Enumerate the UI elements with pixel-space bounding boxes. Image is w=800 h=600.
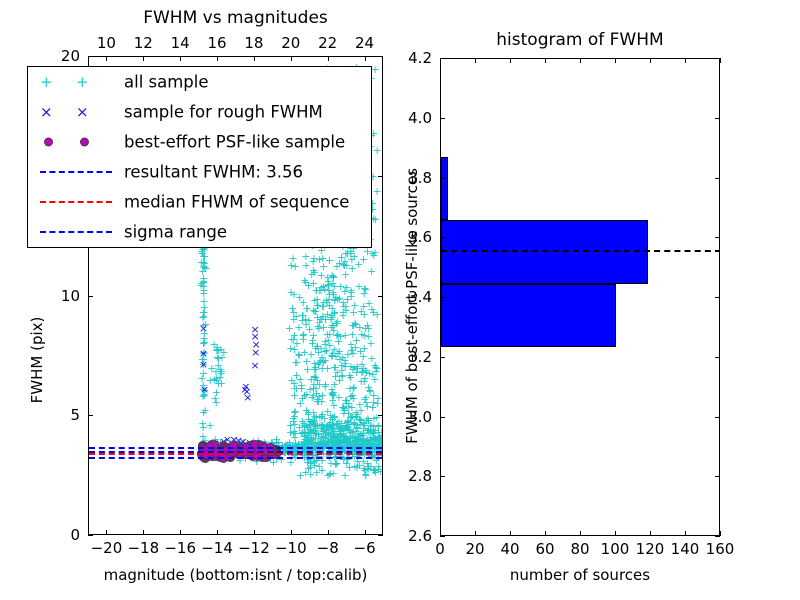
all-sample-point: + xyxy=(327,438,336,445)
all-sample-point: + xyxy=(340,438,349,445)
all-sample-point: + xyxy=(323,311,332,318)
all-sample-point: + xyxy=(314,349,323,356)
all-sample-point: + xyxy=(302,305,311,312)
x-tick-mark-top xyxy=(291,56,292,61)
all-sample-point: + xyxy=(369,434,378,441)
all-sample-point: + xyxy=(371,469,380,476)
all-sample-point: + xyxy=(334,394,343,401)
all-sample-point: + xyxy=(365,439,374,446)
all-sample-point: + xyxy=(370,362,379,369)
psf-like-point xyxy=(219,441,228,450)
all-sample-point: + xyxy=(306,426,315,433)
figure-canvas: FWHM vs magnitudes +++++++++++++++++++++… xyxy=(0,0,800,600)
all-sample-point: + xyxy=(311,374,320,381)
all-sample-point: + xyxy=(319,283,328,290)
all-sample-point: + xyxy=(353,424,362,431)
all-sample-point: + xyxy=(313,398,322,405)
all-sample-point: + xyxy=(314,431,323,438)
all-sample-point: + xyxy=(334,424,343,431)
all-sample-point: + xyxy=(301,469,310,476)
all-sample-point: + xyxy=(332,320,341,327)
all-sample-point: + xyxy=(364,463,373,470)
all-sample-point: + xyxy=(352,425,361,432)
all-sample-point: + xyxy=(334,437,343,444)
all-sample-point: + xyxy=(304,438,313,445)
all-sample-point: + xyxy=(321,440,330,447)
all-sample-point: + xyxy=(331,460,340,467)
all-sample-point: + xyxy=(378,438,383,445)
all-sample-point: + xyxy=(318,255,327,262)
all-sample-point: + xyxy=(301,430,310,437)
all-sample-point: + xyxy=(296,430,305,437)
all-sample-point: + xyxy=(304,465,313,472)
all-sample-point: + xyxy=(317,272,326,279)
all-sample-point: + xyxy=(201,265,210,272)
all-sample-point: + xyxy=(332,435,341,442)
histogram-x-tick-mark xyxy=(615,531,616,536)
x-tick-mark xyxy=(328,530,329,535)
all-sample-point: + xyxy=(295,294,304,301)
all-sample-point: + xyxy=(201,407,210,414)
all-sample-point: + xyxy=(253,437,262,444)
all-sample-point: + xyxy=(355,462,364,469)
all-sample-point: + xyxy=(329,422,338,429)
all-sample-point: + xyxy=(372,365,381,372)
all-sample-point: + xyxy=(317,413,326,420)
all-sample-point: + xyxy=(214,362,223,369)
all-sample-point: + xyxy=(206,422,215,429)
all-sample-point: + xyxy=(340,434,349,441)
all-sample-point: + xyxy=(311,430,320,437)
all-sample-point: + xyxy=(362,417,371,424)
all-sample-point: + xyxy=(328,414,337,421)
all-sample-point: + xyxy=(302,437,311,444)
all-sample-point: + xyxy=(321,341,330,348)
all-sample-point: + xyxy=(323,423,332,430)
all-sample-point: + xyxy=(348,265,357,272)
all-sample-point: + xyxy=(353,435,362,442)
y-tick-mark-right xyxy=(378,415,383,416)
x-tick-mark xyxy=(365,530,366,535)
all-sample-point: + xyxy=(340,440,349,447)
all-sample-point: + xyxy=(361,438,370,445)
all-sample-point: + xyxy=(306,434,315,441)
all-sample-point: + xyxy=(349,428,358,435)
all-sample-point: + xyxy=(217,354,226,361)
all-sample-point: + xyxy=(300,429,309,436)
all-sample-point: + xyxy=(347,435,356,442)
all-sample-point: + xyxy=(329,402,338,409)
all-sample-point: + xyxy=(330,297,339,304)
histogram-x-tick-mark-top xyxy=(475,58,476,63)
y-tick-mark xyxy=(88,296,93,297)
all-sample-point: + xyxy=(307,376,316,383)
all-sample-point: + xyxy=(291,263,300,270)
all-sample-point: + xyxy=(332,320,341,327)
all-sample-point: + xyxy=(350,253,359,260)
all-sample-point: + xyxy=(373,395,382,402)
all-sample-point: + xyxy=(326,460,335,467)
all-sample-point: + xyxy=(199,382,208,389)
all-sample-point: + xyxy=(285,439,294,446)
all-sample-point: + xyxy=(318,365,327,372)
all-sample-point: + xyxy=(359,419,368,426)
all-sample-point: + xyxy=(292,385,301,392)
all-sample-point: + xyxy=(340,262,349,269)
all-sample-point: + xyxy=(310,413,319,420)
all-sample-point: + xyxy=(200,330,209,337)
all-sample-point: + xyxy=(360,422,369,429)
histogram-y-tick-mark-right xyxy=(715,237,720,238)
all-sample-point: + xyxy=(300,392,309,399)
all-sample-point: + xyxy=(310,458,319,465)
all-sample-point: + xyxy=(339,430,348,437)
all-sample-point: + xyxy=(341,332,350,339)
all-sample-point: + xyxy=(344,410,353,417)
all-sample-point: + xyxy=(342,434,351,441)
all-sample-point: + xyxy=(342,435,351,442)
all-sample-point: + xyxy=(290,409,299,416)
histogram-bar xyxy=(441,157,448,220)
all-sample-point: + xyxy=(338,425,347,432)
all-sample-point: + xyxy=(297,382,306,389)
all-sample-point: + xyxy=(332,440,341,447)
all-sample-point: + xyxy=(303,424,312,431)
all-sample-point: + xyxy=(329,273,338,280)
all-sample-point: + xyxy=(339,434,348,441)
all-sample-point: + xyxy=(199,386,208,393)
all-sample-point: + xyxy=(320,439,329,446)
all-sample-point: + xyxy=(362,369,371,376)
histogram-y-tick-mark-right xyxy=(715,357,720,358)
all-sample-point: + xyxy=(356,431,365,438)
all-sample-point: + xyxy=(326,316,335,323)
histogram-y-tick-mark-right xyxy=(715,417,720,418)
all-sample-point: + xyxy=(346,341,355,348)
y-tick-mark-right xyxy=(378,296,383,297)
all-sample-point: + xyxy=(359,425,368,432)
all-sample-point: + xyxy=(200,264,209,271)
all-sample-point: + xyxy=(346,374,355,381)
all-sample-point: + xyxy=(299,420,308,427)
all-sample-point: + xyxy=(373,311,382,318)
all-sample-point: + xyxy=(300,440,309,447)
all-sample-point: + xyxy=(323,408,332,415)
all-sample-point: + xyxy=(286,459,295,466)
all-sample-point: + xyxy=(320,439,329,446)
all-sample-point: + xyxy=(371,427,380,434)
all-sample-point: + xyxy=(298,418,307,425)
all-sample-point: + xyxy=(350,434,359,441)
all-sample-point: + xyxy=(197,248,206,255)
x-tick-label: −12 xyxy=(238,539,270,557)
all-sample-point: + xyxy=(328,440,337,447)
all-sample-point: + xyxy=(325,421,334,428)
all-sample-point: + xyxy=(366,434,375,441)
plus-icon: + xyxy=(40,77,53,87)
all-sample-point: + xyxy=(373,435,382,442)
all-sample-point: + xyxy=(364,333,373,340)
all-sample-point: + xyxy=(359,365,368,372)
histogram-x-tick-mark xyxy=(475,531,476,536)
histogram-y-tick-mark xyxy=(440,118,445,119)
all-sample-point: + xyxy=(213,344,222,351)
all-sample-point: + xyxy=(304,317,313,324)
dashdot-line-icon xyxy=(40,231,112,233)
histogram-y-tick-mark-right xyxy=(715,476,720,477)
histogram-x-tick-label: 140 xyxy=(671,540,700,558)
all-sample-point: + xyxy=(313,422,322,429)
plus-icon: + xyxy=(76,77,89,87)
x-tick-mark-top xyxy=(143,56,144,61)
histogram-y-tick-mark xyxy=(440,297,445,298)
all-sample-point: + xyxy=(361,325,370,332)
all-sample-point: + xyxy=(300,436,309,443)
all-sample-point: + xyxy=(328,434,337,441)
all-sample-point: + xyxy=(310,462,319,469)
all-sample-point: + xyxy=(359,437,368,444)
all-sample-point: + xyxy=(351,438,360,445)
all-sample-point: + xyxy=(350,437,359,444)
all-sample-point: + xyxy=(303,305,312,312)
all-sample-point: + xyxy=(360,467,369,474)
all-sample-point: + xyxy=(378,432,383,439)
all-sample-point: + xyxy=(267,439,276,446)
all-sample-point: + xyxy=(212,377,221,384)
histogram-y-tick-mark xyxy=(440,178,445,179)
x-tick-mark-top xyxy=(106,56,107,61)
all-sample-point: + xyxy=(348,385,357,392)
rough-fwhm-point: × xyxy=(199,325,208,332)
all-sample-point: + xyxy=(328,392,337,399)
all-sample-point: + xyxy=(308,419,317,426)
histogram-x-tick-label: 60 xyxy=(535,540,554,558)
all-sample-point: + xyxy=(310,360,319,367)
all-sample-point: + xyxy=(286,422,295,429)
all-sample-point: + xyxy=(370,437,379,444)
all-sample-point: + xyxy=(310,421,319,428)
all-sample-point: + xyxy=(328,391,337,398)
all-sample-point: + xyxy=(330,310,339,317)
all-sample-point: + xyxy=(304,432,313,439)
x-tick-mark xyxy=(254,530,255,535)
all-sample-point: + xyxy=(316,287,325,294)
rough-fwhm-point: × xyxy=(251,326,260,333)
all-sample-point: + xyxy=(331,373,340,380)
all-sample-point: + xyxy=(324,429,333,436)
all-sample-point: + xyxy=(333,296,342,303)
rough-fwhm-point: × xyxy=(251,333,260,340)
all-sample-point: + xyxy=(286,345,295,352)
all-sample-point: + xyxy=(197,282,206,289)
all-sample-point: + xyxy=(330,428,339,435)
all-sample-point: + xyxy=(345,439,354,446)
all-sample-point: + xyxy=(268,439,277,446)
all-sample-point: + xyxy=(357,369,366,376)
all-sample-point: + xyxy=(315,414,324,421)
all-sample-point: + xyxy=(374,423,383,430)
x-tick-mark-top xyxy=(328,56,329,61)
all-sample-point: + xyxy=(314,435,323,442)
all-sample-point: + xyxy=(217,368,226,375)
all-sample-point: + xyxy=(368,250,377,257)
legend-row: ××sample for rough FWHM xyxy=(28,97,371,127)
all-sample-point: + xyxy=(361,286,370,293)
all-sample-point: + xyxy=(249,438,258,445)
all-sample-point: + xyxy=(198,314,207,321)
x-tick-label: −10 xyxy=(275,539,307,557)
all-sample-point: + xyxy=(311,364,320,371)
all-sample-point: + xyxy=(333,420,342,427)
all-sample-point: + xyxy=(290,385,299,392)
all-sample-point: + xyxy=(351,321,360,328)
all-sample-point: + xyxy=(377,429,383,436)
all-sample-point: + xyxy=(359,353,368,360)
all-sample-point: + xyxy=(371,466,380,473)
all-sample-point: + xyxy=(299,439,308,446)
all-sample-point: + xyxy=(336,283,345,290)
all-sample-point: + xyxy=(272,436,281,443)
all-sample-point: + xyxy=(341,433,350,440)
all-sample-point: + xyxy=(306,437,315,444)
all-sample-point: + xyxy=(361,471,370,478)
rough-fwhm-point: × xyxy=(251,341,260,348)
all-sample-point: + xyxy=(199,259,208,266)
all-sample-point: + xyxy=(331,434,340,441)
all-sample-point: + xyxy=(326,419,335,426)
all-sample-point: + xyxy=(376,437,383,444)
all-sample-point: + xyxy=(317,467,326,474)
all-sample-point: + xyxy=(359,256,368,263)
all-sample-point: + xyxy=(197,259,206,266)
legend-row: sigma range xyxy=(28,217,371,247)
all-sample-point: + xyxy=(347,414,356,421)
all-sample-point: + xyxy=(333,369,342,376)
all-sample-point: + xyxy=(300,433,309,440)
all-sample-point: + xyxy=(354,436,363,443)
all-sample-point: + xyxy=(357,331,366,338)
all-sample-point: + xyxy=(337,254,346,261)
all-sample-point: + xyxy=(327,352,336,359)
all-sample-point: + xyxy=(331,364,340,371)
all-sample-point: + xyxy=(336,438,345,445)
all-sample-point: + xyxy=(316,357,325,364)
all-sample-point: + xyxy=(199,309,208,316)
right-plot-title: histogram of FWHM xyxy=(440,30,720,50)
histogram-y-tick-label: 2.6 xyxy=(408,527,432,545)
all-sample-point: + xyxy=(317,440,326,447)
all-sample-point: + xyxy=(326,423,335,430)
all-sample-point: + xyxy=(340,425,349,432)
all-sample-point: + xyxy=(330,296,339,303)
all-sample-point: + xyxy=(317,438,326,445)
all-sample-point: + xyxy=(359,420,368,427)
all-sample-point: + xyxy=(319,426,328,433)
all-sample-point: + xyxy=(311,385,320,392)
y-tick-mark xyxy=(88,56,93,57)
rough-fwhm-point: × xyxy=(199,361,208,368)
all-sample-point: + xyxy=(351,428,360,435)
all-sample-point: + xyxy=(294,324,303,331)
all-sample-point: + xyxy=(339,427,348,434)
all-sample-point: + xyxy=(346,414,355,421)
all-sample-point: + xyxy=(199,361,208,368)
all-sample-point: + xyxy=(311,308,320,315)
all-sample-point: + xyxy=(287,377,296,384)
histogram-x-tick-label: 0 xyxy=(435,540,445,558)
all-sample-point: + xyxy=(319,263,328,270)
x-tick-mark-top xyxy=(365,56,366,61)
all-sample-point: + xyxy=(340,434,349,441)
all-sample-point: + xyxy=(311,374,320,381)
all-sample-point: + xyxy=(366,463,375,470)
all-sample-point: + xyxy=(323,365,332,372)
all-sample-point: + xyxy=(198,268,207,275)
all-sample-point: + xyxy=(298,332,307,339)
all-sample-point: + xyxy=(341,422,350,429)
all-sample-point: + xyxy=(363,248,372,255)
all-sample-point: + xyxy=(301,253,310,260)
histogram-y-tick-mark-right xyxy=(715,58,720,59)
all-sample-point: + xyxy=(329,426,338,433)
all-sample-point: + xyxy=(369,423,378,430)
all-sample-point: + xyxy=(343,418,352,425)
all-sample-point: + xyxy=(327,437,336,444)
all-sample-point: + xyxy=(308,340,317,347)
all-sample-point: + xyxy=(324,278,333,285)
all-sample-point: + xyxy=(374,429,383,436)
all-sample-point: + xyxy=(320,424,329,431)
all-sample-point: + xyxy=(333,434,342,441)
x-tick-mark xyxy=(106,530,107,535)
histogram-x-tick-mark xyxy=(510,531,511,536)
legend-row: best-effort PSF-like sample xyxy=(28,127,371,157)
all-sample-point: + xyxy=(318,422,327,429)
rough-fwhm-point: × xyxy=(241,383,250,390)
all-sample-point: + xyxy=(359,303,368,310)
all-sample-point: + xyxy=(340,436,349,443)
all-sample-point: + xyxy=(330,413,339,420)
all-sample-point: + xyxy=(213,439,222,446)
all-sample-point: + xyxy=(336,431,345,438)
all-sample-point: + xyxy=(322,347,331,354)
legend-label: best-effort PSF-like sample xyxy=(124,133,345,152)
cross-icon: × xyxy=(40,107,53,117)
all-sample-point: + xyxy=(305,422,314,429)
histogram-y-tick-mark-right xyxy=(715,536,720,537)
all-sample-point: + xyxy=(298,429,307,436)
all-sample-point: + xyxy=(305,421,314,428)
all-sample-point: + xyxy=(337,362,346,369)
all-sample-point: + xyxy=(328,440,337,447)
all-sample-point: + xyxy=(371,368,380,375)
all-sample-point: + xyxy=(343,438,352,445)
all-sample-point: + xyxy=(360,375,369,382)
x-tick-mark-top xyxy=(254,56,255,61)
all-sample-point: + xyxy=(349,384,358,391)
histogram-x-tick-mark-top xyxy=(615,58,616,63)
all-sample-point: + xyxy=(354,261,363,268)
histogram-x-tick-label: 80 xyxy=(570,540,589,558)
all-sample-point: + xyxy=(352,337,361,344)
legend-label: all sample xyxy=(124,73,209,92)
all-sample-point: + xyxy=(365,388,374,395)
all-sample-point: + xyxy=(353,363,362,370)
all-sample-point: + xyxy=(330,346,339,353)
all-sample-point: + xyxy=(351,320,360,327)
histogram-x-tick-label: 100 xyxy=(601,540,630,558)
all-sample-point: + xyxy=(354,283,363,290)
